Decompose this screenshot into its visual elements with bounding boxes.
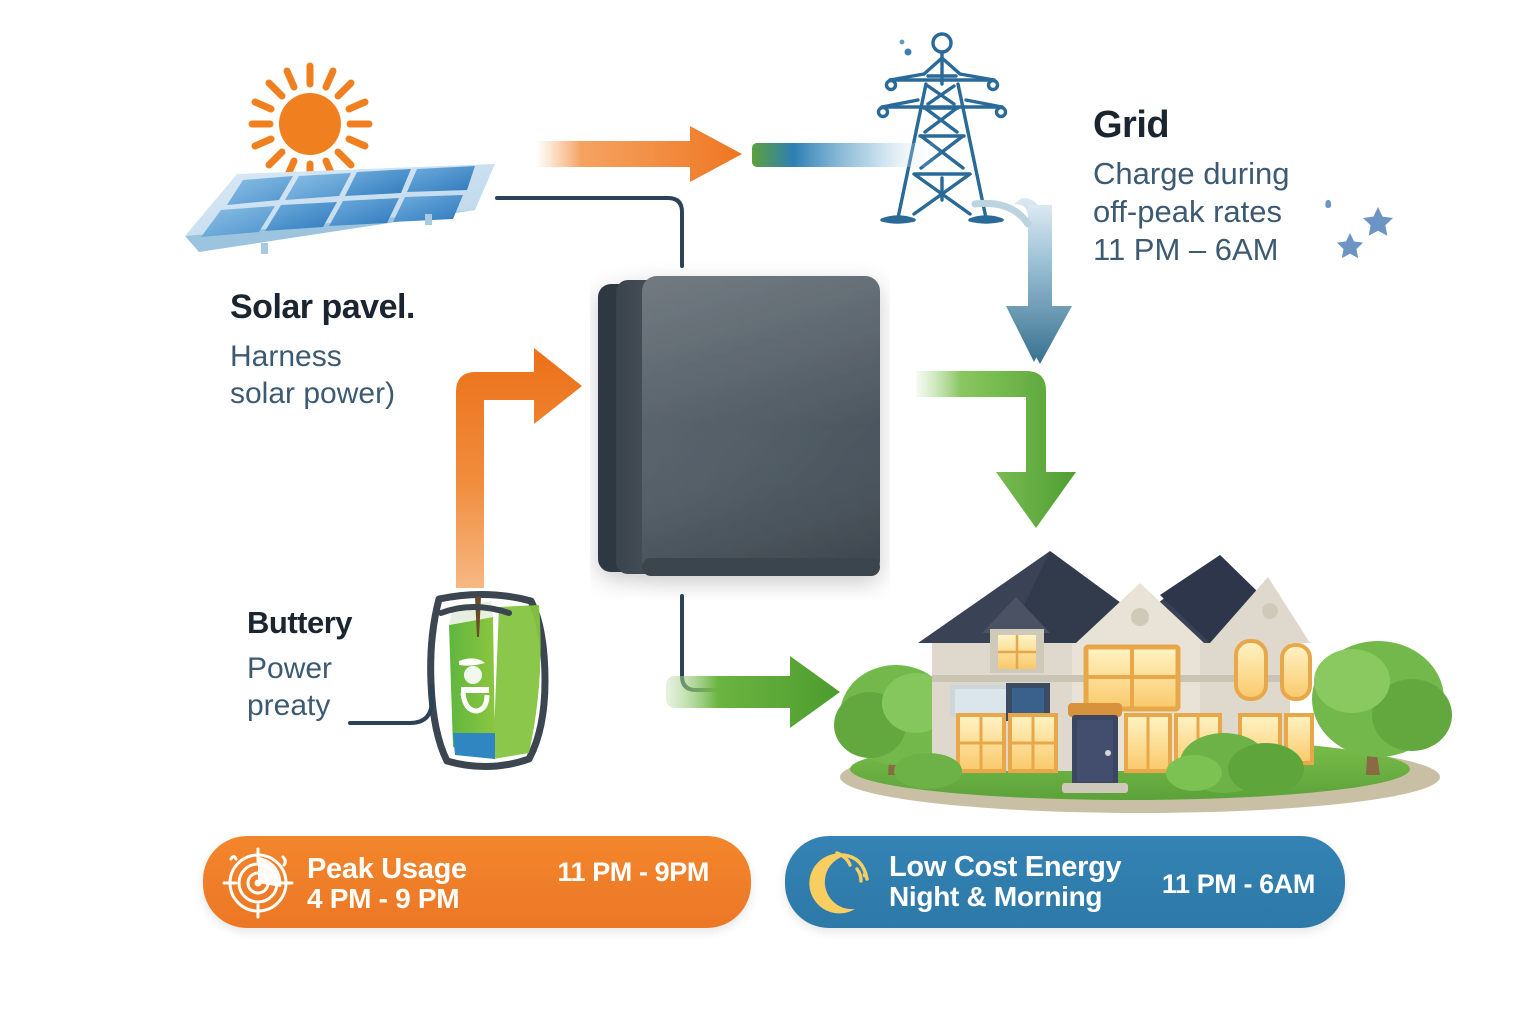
badge-peak-subtitle: 4 PM - 9 PM bbox=[307, 884, 467, 913]
badge-peak-texts: Peak Usage 4 PM - 9 PM bbox=[307, 855, 467, 914]
badge-lowcost-title: Low Cost Energy bbox=[889, 853, 1121, 883]
battery-title: Buttery bbox=[247, 605, 352, 641]
house-icon bbox=[800, 525, 1460, 815]
battery-subtitle-line1: Power bbox=[247, 651, 352, 688]
solar-panel-icon bbox=[175, 140, 505, 270]
grid-subtitle-line1: Charge during bbox=[1093, 155, 1289, 193]
connector-unit-to-home bbox=[682, 596, 716, 690]
battery-subtitle-line2: preaty bbox=[247, 688, 352, 725]
solar-subtitle-line2: solar power) bbox=[230, 376, 415, 413]
solar-title: Solar pavel. bbox=[230, 288, 415, 327]
grid-to-home-arrow bbox=[916, 371, 1076, 528]
battery-icon bbox=[413, 583, 565, 779]
grid-label-group: Grid Charge during off-peak rates 11 PM … bbox=[1093, 104, 1289, 268]
battery-label-group: Buttery Power preaty bbox=[247, 605, 352, 724]
solar-subtitle: Harness solar power) bbox=[230, 339, 415, 412]
badge-lowcost-subtitle: Night & Morning bbox=[889, 882, 1121, 911]
battery-to-unit-arrow bbox=[456, 348, 582, 588]
solar-to-grid-arrow bbox=[536, 126, 742, 182]
moon-icon bbox=[803, 845, 877, 919]
badge-peak-title: Peak Usage bbox=[307, 855, 467, 885]
gauge-clock-icon bbox=[221, 845, 295, 919]
badge-peak-usage[interactable]: Peak Usage 4 PM - 9 PM 11 PM - 9PM bbox=[203, 836, 751, 928]
solar-label-group: Solar pavel. Harness solar power) bbox=[230, 288, 415, 412]
grid-subtitle: Charge during off-peak rates 11 PM – 6AM bbox=[1093, 155, 1289, 268]
grid-subtitle-line2: off-peak rates bbox=[1093, 193, 1289, 231]
badge-peak-time: 11 PM - 9PM bbox=[557, 857, 709, 888]
badge-lowcost-time: 11 PM - 6AM bbox=[1162, 869, 1315, 900]
badge-low-cost-energy[interactable]: Low Cost Energy Night & Morning 11 PM - … bbox=[785, 836, 1345, 928]
grid-subtitle-line3: 11 PM – 6AM bbox=[1093, 231, 1289, 269]
grid-title: Grid bbox=[1093, 104, 1289, 147]
badge-lowcost-texts: Low Cost Energy Night & Morning bbox=[889, 853, 1121, 912]
infographic-canvas: Solar pavel. Harness solar power) Butter… bbox=[0, 0, 1536, 1024]
battery-subtitle: Power preaty bbox=[247, 651, 352, 724]
transmission-tower-icon bbox=[862, 28, 1022, 246]
connector-solar-to-unit bbox=[497, 198, 682, 266]
decorative-stars bbox=[1320, 195, 1450, 285]
solar-subtitle-line1: Harness bbox=[230, 339, 415, 376]
